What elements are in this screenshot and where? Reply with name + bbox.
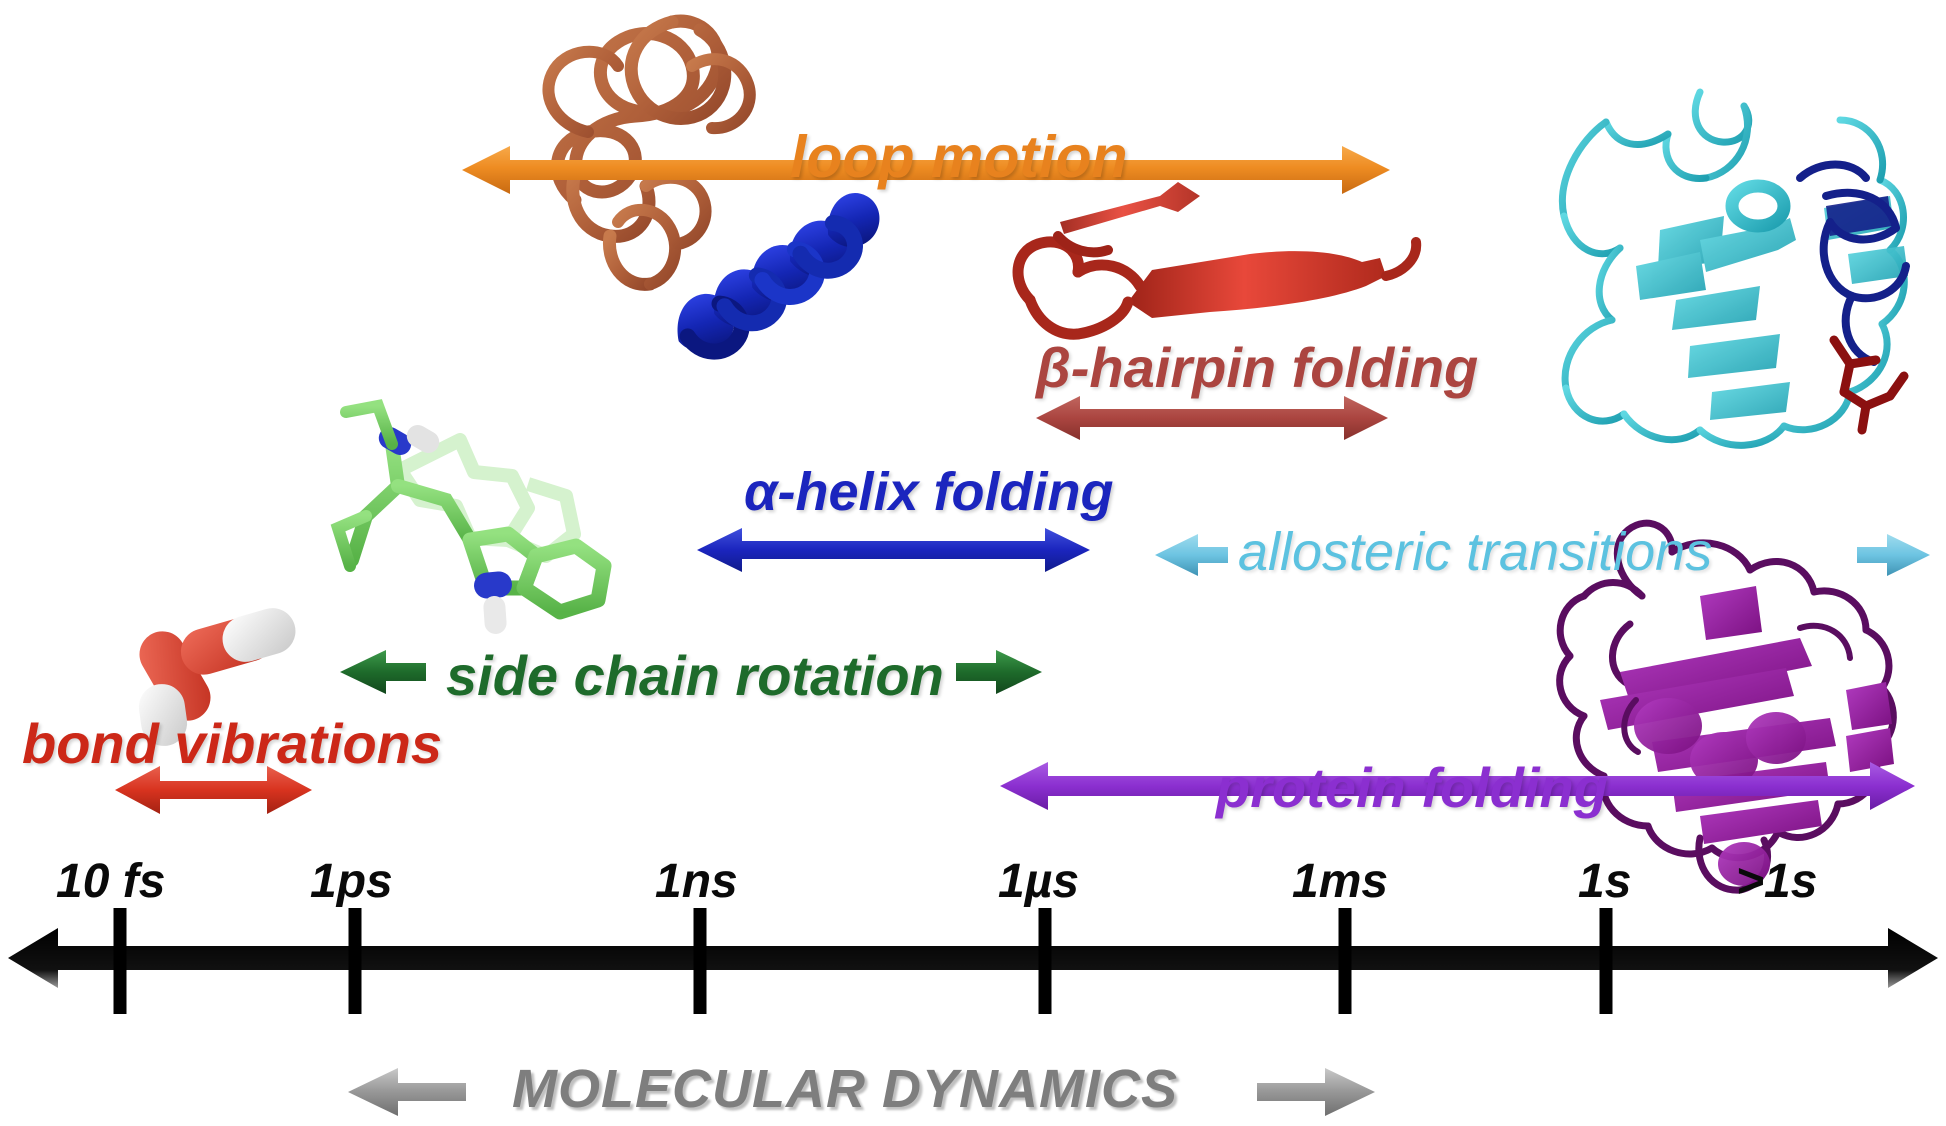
label-bond-vibrations: bond vibrations [22, 716, 442, 772]
tick-label-1s: 1s [1578, 858, 1631, 906]
side-chain-left-arrow [340, 650, 426, 694]
side-chain-right-arrow [956, 650, 1042, 694]
label-molecular-dynamics: MOLECULAR DYNAMICS [512, 1058, 1178, 1120]
molecular-dynamics-left-arrow [348, 1068, 466, 1116]
label-protein-folding: protein folding [1216, 760, 1608, 816]
loop-backbone-structure [548, 21, 749, 284]
tryptophan-structure [338, 406, 604, 635]
tick-label-1ns: 1ns [655, 858, 738, 906]
tick-label-gt1s: >1s [1736, 858, 1817, 906]
beta-hairpin-arrow [1036, 396, 1388, 440]
tick-label-1ms: 1ms [1292, 858, 1388, 906]
label-loop-motion: loop motion [790, 128, 1128, 187]
timeline-axis [8, 908, 1938, 1014]
tick-label-1us: 1µs [998, 858, 1079, 906]
label-allosteric-transitions: allosteric transitions [1238, 525, 1712, 579]
alpha-helix-structure [652, 187, 904, 362]
cyan-protein-structure [1562, 92, 1908, 445]
allosteric-left-arrow [1155, 534, 1228, 576]
beta-hairpin-structure [1018, 182, 1416, 334]
tick-label-1ps: 1ps [310, 858, 393, 906]
alpha-helix-arrow [697, 528, 1090, 572]
figure-canvas: loop motion β-hairpin folding α-helix fo… [0, 0, 1946, 1126]
molecular-dynamics-right-arrow [1257, 1068, 1375, 1116]
allosteric-right-arrow [1857, 534, 1930, 576]
label-side-chain-rotation: side chain rotation [446, 648, 944, 704]
tick-label-10fs: 10 fs [56, 858, 165, 906]
label-beta-hairpin-folding: β-hairpin folding [1036, 340, 1478, 396]
label-alpha-helix-folding: α-helix folding [744, 465, 1113, 519]
